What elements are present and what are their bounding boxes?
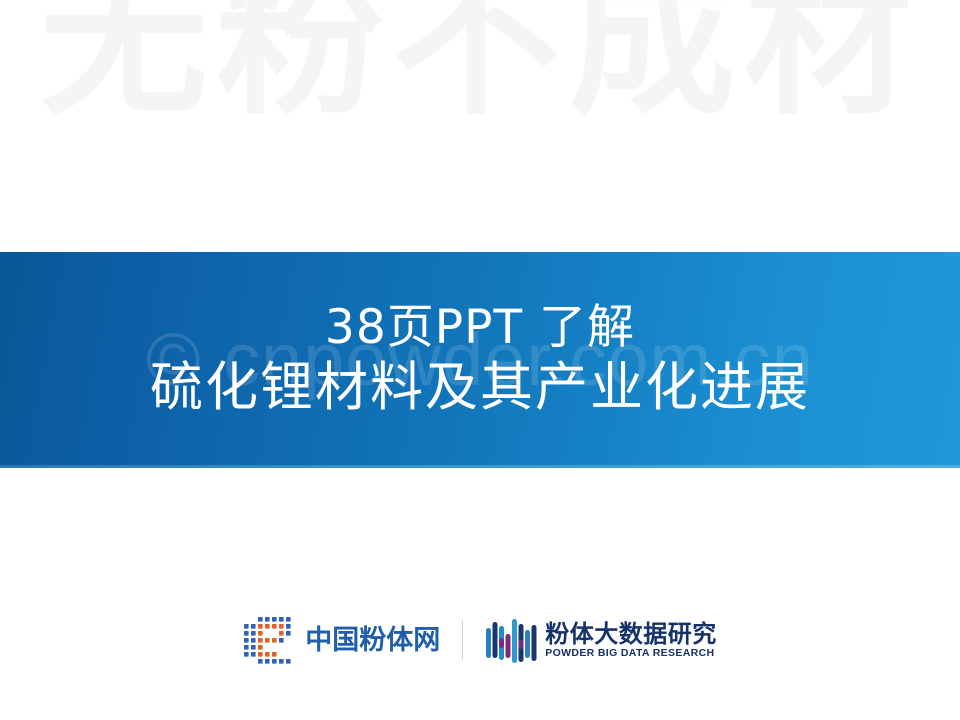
logo-cnpowder[interactable]: 中国粉体网 xyxy=(243,615,440,665)
slogan-watermark: 无粉不成材 xyxy=(0,0,960,124)
banner-bottom-edge xyxy=(0,465,960,468)
pixel-f-icon xyxy=(243,615,297,665)
logo-bigdata-name-en: POWDER BIG DATA RESEARCH xyxy=(545,648,717,659)
title-text-group: 38页PPT 了解 硫化锂材料及其产业化进展 xyxy=(0,252,960,468)
logo-bigdata-text: 粉体大数据研究 POWDER BIG DATA RESEARCH xyxy=(545,622,717,659)
logo-bigdata-name-cn: 粉体大数据研究 xyxy=(545,622,717,646)
footer-logo-bar: 中国粉体网 粉体大数据研究 xyxy=(0,604,960,676)
bar-chart-icon xyxy=(485,614,537,666)
logo-divider xyxy=(462,620,463,660)
presentation-slide: 无粉不成材 © cnpowder.com.cn 38页PPT 了解 硫化锂材料及… xyxy=(0,0,960,720)
title-line-2: 硫化锂材料及其产业化进展 xyxy=(150,357,810,420)
title-line-1: 38页PPT 了解 xyxy=(325,300,635,355)
logo-bigdata[interactable]: 粉体大数据研究 POWDER BIG DATA RESEARCH xyxy=(485,614,717,666)
logo-cnpowder-name: 中国粉体网 xyxy=(305,627,440,654)
title-banner: © cnpowder.com.cn 38页PPT 了解 硫化锂材料及其产业化进展 xyxy=(0,252,960,468)
